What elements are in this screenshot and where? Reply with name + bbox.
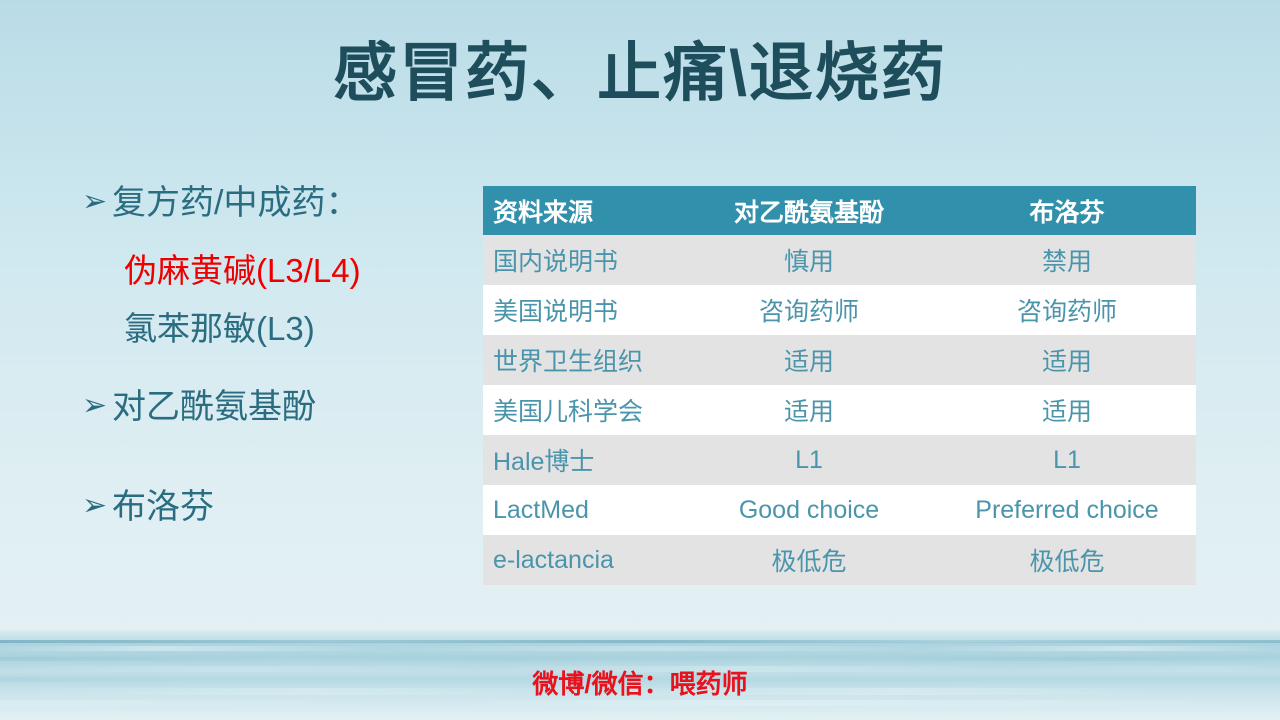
table-row: 美国说明书 咨询药师 咨询药师: [483, 285, 1196, 335]
bullet-arrow-icon: ➢: [82, 180, 112, 224]
cell-paracetamol: 极低危: [680, 535, 938, 585]
slide-title: 感冒药、止痛\退烧药: [0, 34, 1280, 112]
table-row: 世界卫生组织 适用 适用: [483, 335, 1196, 385]
table-row: 国内说明书 慎用 禁用: [483, 235, 1196, 285]
footer-credit: 微博/微信：喂药师: [0, 664, 1280, 701]
cell-ibuprofen: 适用: [938, 335, 1196, 385]
cell-paracetamol: Good choice: [680, 485, 938, 535]
sub-item-pseudoephedrine: 伪麻黄碱(L3/L4): [82, 248, 472, 294]
spacer: [82, 226, 472, 248]
table-header-row: 资料来源 对乙酰氨基酚 布洛芬: [483, 186, 1196, 235]
sub-item-chlorphenamine: 氯苯那敏(L3): [82, 306, 472, 352]
cell-source: 美国儿科学会: [483, 385, 680, 435]
bullet-arrow-icon: ➢: [82, 384, 112, 428]
cell-ibuprofen: 禁用: [938, 235, 1196, 285]
spacer: [82, 430, 472, 484]
cell-paracetamol: 咨询药师: [680, 285, 938, 335]
bullet-list: ➢ 复方药/中成药： 伪麻黄碱(L3/L4) 氯苯那敏(L3) ➢ 对乙酰氨基酚…: [82, 180, 472, 530]
cell-ibuprofen: Preferred choice: [938, 485, 1196, 535]
cell-ibuprofen: 极低危: [938, 535, 1196, 585]
table-row: e-lactancia 极低危 极低危: [483, 535, 1196, 585]
bullet-item-ibuprofen: ➢ 布洛芬: [82, 484, 472, 530]
bullet-label: 对乙酰氨基酚: [112, 384, 316, 430]
bullet-item-compound-drugs: ➢ 复方药/中成药：: [82, 180, 472, 226]
bullet-arrow-icon: ➢: [82, 484, 112, 528]
cell-ibuprofen: 适用: [938, 385, 1196, 435]
water-horizon-line: [0, 640, 1280, 643]
cell-source: 美国说明书: [483, 285, 680, 335]
cell-source: 世界卫生组织: [483, 335, 680, 385]
column-header-source: 资料来源: [483, 186, 680, 235]
column-header-paracetamol: 对乙酰氨基酚: [680, 186, 938, 235]
cell-paracetamol: L1: [680, 435, 938, 485]
cell-source: e-lactancia: [483, 535, 680, 585]
column-header-ibuprofen: 布洛芬: [938, 186, 1196, 235]
cell-paracetamol: 慎用: [680, 235, 938, 285]
cell-paracetamol: 适用: [680, 385, 938, 435]
bullet-item-paracetamol: ➢ 对乙酰氨基酚: [82, 384, 472, 430]
cell-source: LactMed: [483, 485, 680, 535]
cell-source: Hale博士: [483, 435, 680, 485]
spacer: [82, 352, 472, 384]
water-streak: [0, 646, 1280, 651]
spacer: [82, 294, 472, 306]
bullet-label: 复方药/中成药：: [112, 180, 359, 226]
table-row: LactMed Good choice Preferred choice: [483, 485, 1196, 535]
bullet-label: 布洛芬: [112, 484, 214, 530]
cell-source: 国内说明书: [483, 235, 680, 285]
slide-canvas: 感冒药、止痛\退烧药 ➢ 复方药/中成药： 伪麻黄碱(L3/L4) 氯苯那敏(L…: [0, 0, 1280, 720]
drug-safety-table: 资料来源 对乙酰氨基酚 布洛芬 国内说明书 慎用 禁用 美国说明书 咨询药师 咨…: [483, 186, 1196, 585]
table-row: 美国儿科学会 适用 适用: [483, 385, 1196, 435]
cell-ibuprofen: 咨询药师: [938, 285, 1196, 335]
water-streak: [0, 657, 1280, 661]
table-row: Hale博士 L1 L1: [483, 435, 1196, 485]
cell-ibuprofen: L1: [938, 435, 1196, 485]
cell-paracetamol: 适用: [680, 335, 938, 385]
